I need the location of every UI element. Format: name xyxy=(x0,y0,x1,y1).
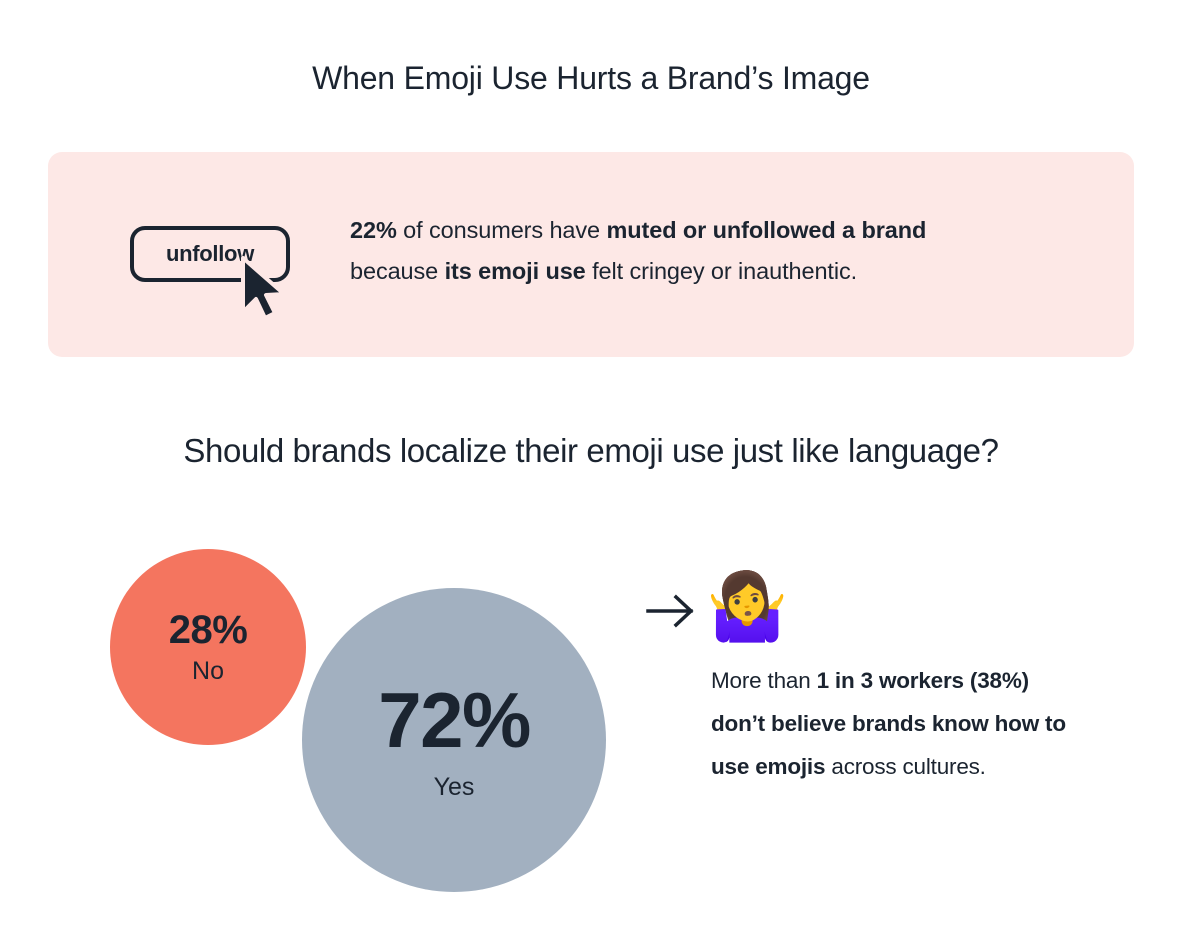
infographic-root: When Emoji Use Hurts a Brand’s Image unf… xyxy=(0,0,1182,930)
cross-culture-stat-text: More than 1 in 3 workers (38%) don’t bel… xyxy=(711,659,1083,788)
banner-statement-line-2: because its emoji use felt cringey or in… xyxy=(350,251,1090,292)
stat-circle-yes: 72% Yes xyxy=(302,588,606,892)
unfollow-button[interactable]: unfollow xyxy=(130,226,290,282)
page-title: When Emoji Use Hurts a Brand’s Image xyxy=(0,60,1182,97)
banner-line2-lead: because xyxy=(350,258,445,284)
right-arrow-icon xyxy=(646,590,696,632)
stat-circle-yes-label: Yes xyxy=(434,775,475,800)
banner-statement: 22% of consumers have muted or unfollowe… xyxy=(350,210,1090,292)
stat-circle-no: 28% No xyxy=(110,549,306,745)
stat-text-line1-bold: 1 in 3 workers xyxy=(817,668,964,693)
stat-circle-yes-value: 72% xyxy=(378,681,530,759)
stat-text-line4-regular: across cultures. xyxy=(831,754,985,779)
banner-stat-value: 22% xyxy=(350,217,397,243)
stat-text-line1-regular: More than xyxy=(711,668,817,693)
stat-circle-no-value: 28% xyxy=(169,610,248,650)
unfollow-button-graphic: unfollow xyxy=(130,226,305,311)
banner-line2-emphasis: its emoji use xyxy=(445,258,586,284)
banner-statement-line-1: 22% of consumers have muted or unfollowe… xyxy=(350,210,1090,251)
stat-circle-no-label: No xyxy=(192,659,224,684)
woman-shrugging-emoji: 🤷‍♀️ xyxy=(706,566,786,648)
unfollow-stat-banner: unfollow 22% of consumers have muted or … xyxy=(48,152,1134,357)
banner-line1-emphasis: muted or unfollowed a brand xyxy=(606,217,926,243)
banner-line2-tail: felt cringey or inauthentic. xyxy=(586,258,857,284)
survey-question: Should brands localize their emoji use j… xyxy=(0,432,1182,470)
banner-line1-mid: of consumers have xyxy=(397,217,607,243)
